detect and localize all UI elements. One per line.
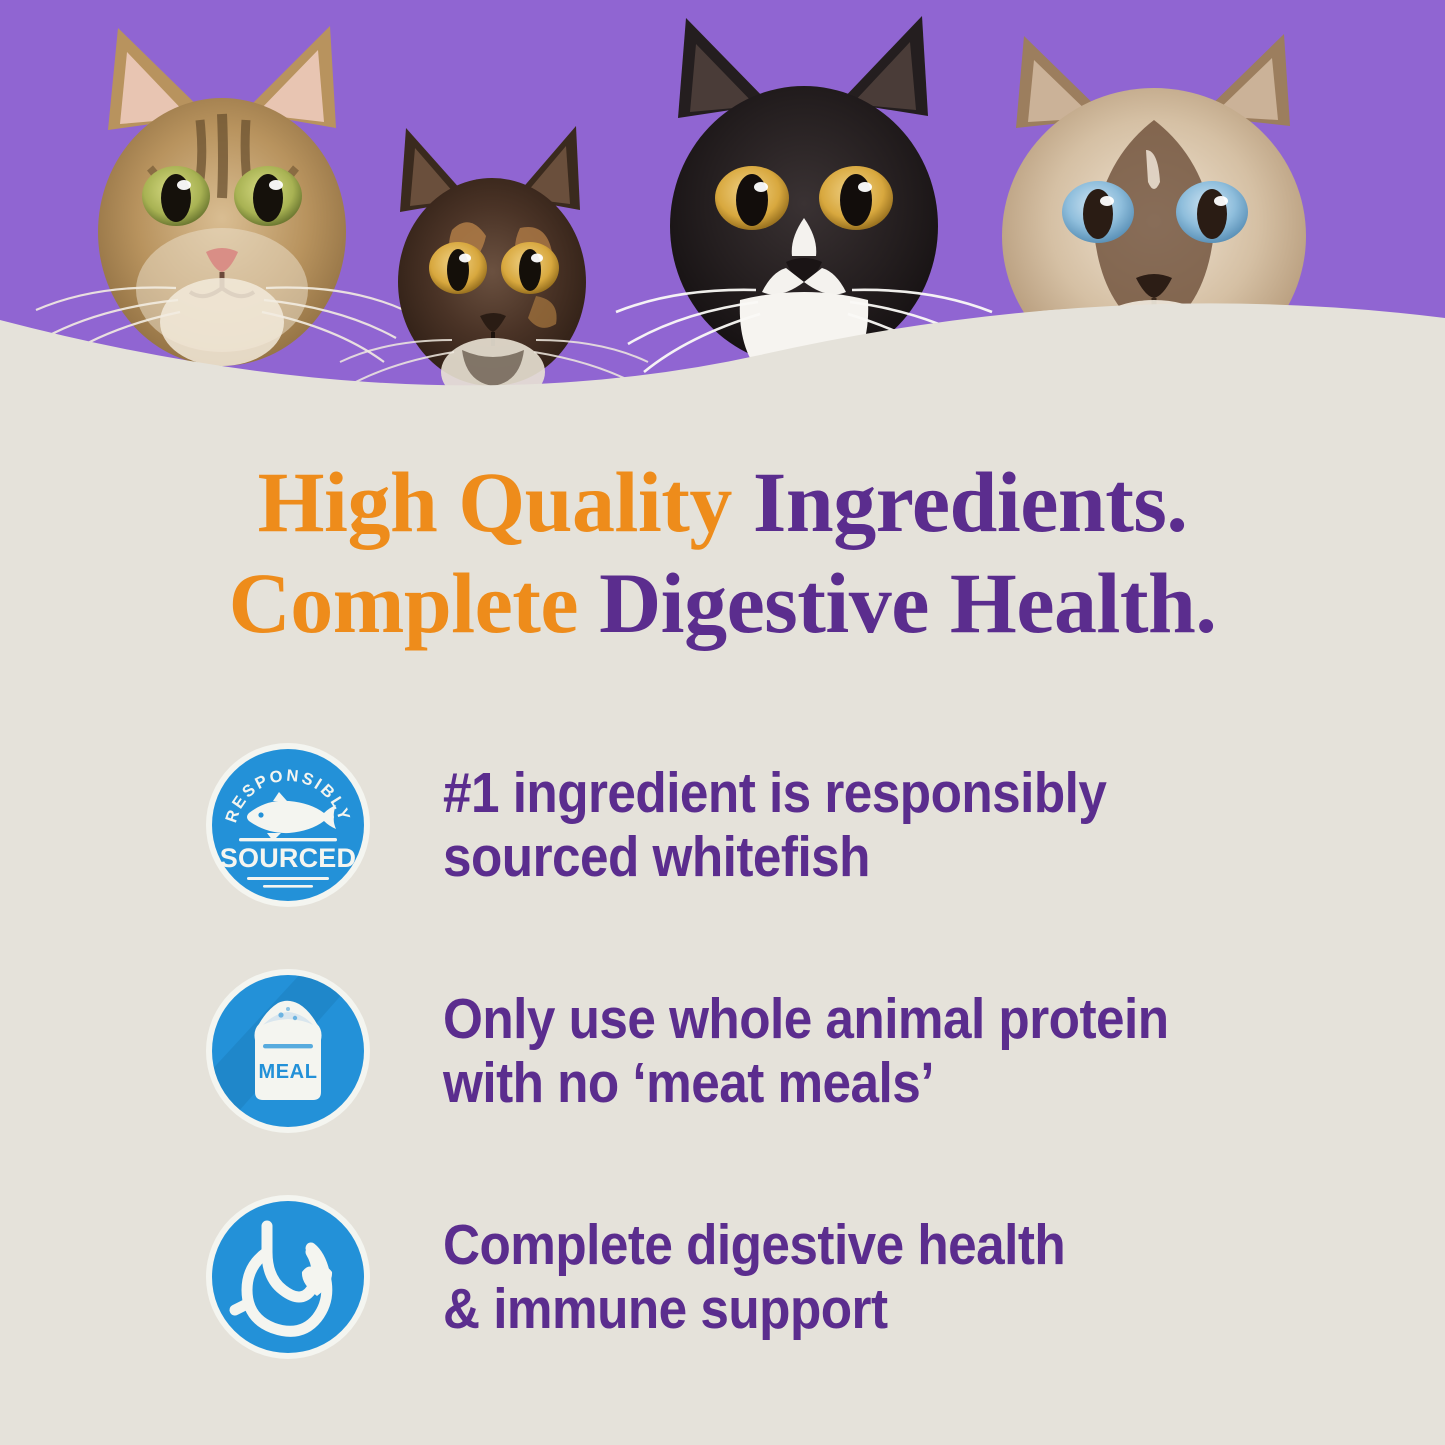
benefit-3-line-1: Complete digestive health bbox=[443, 1213, 1228, 1277]
headline-line-1-purple: Ingredients. bbox=[753, 454, 1187, 550]
benefit-1-line-1: #1 ingredient is responsibly bbox=[443, 761, 1228, 825]
headline-line-2: Complete Digestive Health. bbox=[0, 553, 1445, 654]
headline-line-2-purple: Digestive Health. bbox=[599, 555, 1216, 651]
badge-main-text: SOURCED bbox=[220, 843, 356, 873]
benefit-text-digestive-health: Complete digestive health & immune suppo… bbox=[443, 1213, 1228, 1342]
benefit-row-digestive-health: Complete digestive health & immune suppo… bbox=[205, 1164, 1315, 1390]
benefits-list: RESPONSIBLY SOURCED bbox=[205, 712, 1315, 1390]
benefit-2-line-2: with no ‘meat meals’ bbox=[443, 1051, 1228, 1115]
benefit-row-no-meat-meals: MEAL Only use whole animal protein with … bbox=[205, 938, 1315, 1164]
benefit-3-line-2: & immune support bbox=[443, 1277, 1228, 1341]
headline-line-2-orange: Complete bbox=[229, 555, 578, 651]
benefit-text-no-meat-meals: Only use whole animal protein with no ‘m… bbox=[443, 987, 1228, 1116]
headline-line-1-orange: High Quality bbox=[258, 454, 732, 550]
feed-bag-icon: MEAL bbox=[255, 1001, 322, 1100]
benefit-text-responsibly-sourced: #1 ingredient is responsibly sourced whi… bbox=[443, 761, 1228, 890]
no-meat-meal-bag-icon: MEAL bbox=[205, 968, 371, 1134]
page-title: High Quality Ingredients. Complete Diges… bbox=[0, 452, 1445, 655]
bag-label-text: MEAL bbox=[258, 1061, 317, 1083]
stomach-heart-digestive-icon bbox=[205, 1194, 371, 1360]
benefit-1-line-2: sourced whitefish bbox=[443, 825, 1228, 889]
responsibly-sourced-fish-badge-icon: RESPONSIBLY SOURCED bbox=[205, 742, 371, 908]
benefit-row-responsibly-sourced: RESPONSIBLY SOURCED bbox=[205, 712, 1315, 938]
benefit-2-line-1: Only use whole animal protein bbox=[443, 987, 1228, 1051]
headline-line-1: High Quality Ingredients. bbox=[0, 452, 1445, 553]
product-feature-poster: High Quality Ingredients. Complete Diges… bbox=[0, 0, 1445, 1445]
